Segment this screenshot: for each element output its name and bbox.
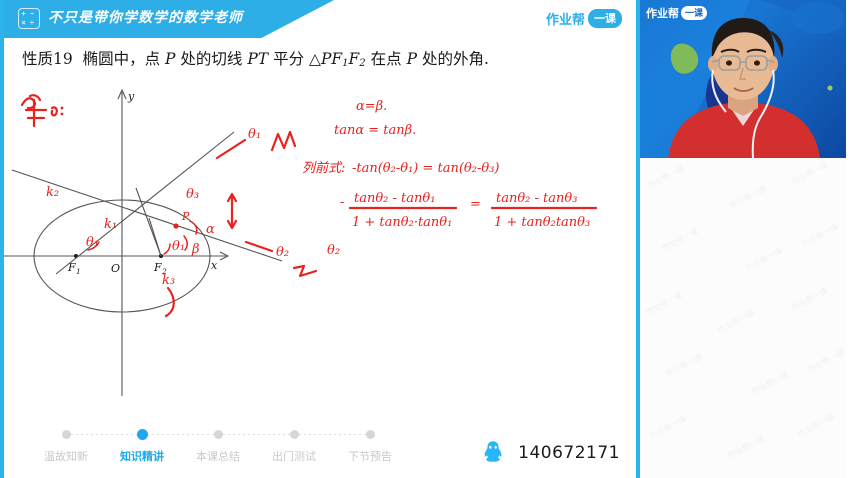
teacher-video-feed[interactable]: 作业帮 一课 xyxy=(640,0,846,158)
ann-theta1: θ₁ xyxy=(248,127,261,142)
panel-watermark: 作业帮一课 xyxy=(750,369,790,397)
whiteboard-canvas[interactable]: .gl{ stroke:#555; fill:none; stroke-widt… xyxy=(4,78,636,396)
ann-T xyxy=(294,266,316,276)
qq-penguin-icon xyxy=(482,440,504,465)
calculator-times-glyph: × xyxy=(22,20,26,27)
title-sub-2: 2 xyxy=(359,58,365,69)
hw-frac1-den: 1 + tanθ₂·tanθ₁ xyxy=(352,215,452,230)
panel-watermark: 作业帮一课 xyxy=(716,307,756,335)
panel-watermark: 作业帮一课 xyxy=(796,411,836,439)
title-var-pt: PT xyxy=(247,50,268,68)
x-axis-label: x xyxy=(211,259,218,272)
hw-frac2-num: tanθ₂ - tanθ₃ xyxy=(496,191,577,206)
step-label: 本课总结 xyxy=(196,448,240,464)
slide-area: + − × ÷ 不只是带你学数学的数学老师 作业帮 一课 性质19 椭圆中，点 … xyxy=(0,0,640,478)
ann-theta1-f2: θ₁ xyxy=(172,239,185,254)
ann-P: P xyxy=(181,210,190,223)
hw-frac-eq: = xyxy=(470,197,481,212)
hw-frac1-num: tanθ₂ - tanθ₁ xyxy=(354,191,435,206)
step-label: 出门测试 xyxy=(272,448,316,464)
side-panel[interactable]: 作业帮一课 作业帮一课 作业帮一课 作业帮一课 作业帮一课 作业帮一课 作业帮一… xyxy=(640,158,846,478)
video-frame-content xyxy=(640,0,846,158)
ann-k1: k₁ xyxy=(104,217,117,232)
app-root: + − × ÷ 不只是带你学数学的数学老师 作业帮 一课 性质19 椭圆中，点 … xyxy=(0,0,850,478)
calculator-icon: + − × ÷ xyxy=(18,8,40,29)
right-column: 作业帮 一课 xyxy=(640,0,846,478)
focus-points: F 1 O F 2 xyxy=(67,254,167,276)
panel-watermark: 作业帮一课 xyxy=(744,245,784,273)
ann-theta3: θ₃ xyxy=(186,187,199,202)
video-watermark: 作业帮 一课 xyxy=(646,5,707,21)
brand-badge: 一课 xyxy=(588,9,622,28)
ann-alpha: α xyxy=(206,222,215,237)
panel-watermark: 作业帮一课 xyxy=(646,163,686,191)
title-var-p2: P xyxy=(407,50,417,68)
step-list: 温故知新 知识精讲 本课总结 出门测试 xyxy=(28,430,408,464)
panel-watermark: 作业帮一课 xyxy=(790,159,830,187)
step-dot xyxy=(62,430,71,439)
construction-lines xyxy=(12,132,282,274)
step-item-4[interactable]: 下节预告 xyxy=(332,430,408,464)
step-label: 知识精讲 xyxy=(120,448,164,464)
calculator-plus-glyph: + xyxy=(22,11,26,18)
ann-theta2: θ₂ xyxy=(327,243,340,258)
video-watermark-text: 作业帮 xyxy=(646,5,679,21)
handwritten-derivation: α=β. tanα = tanβ. 列前式: -tan(θ₂-θ₁) = tan… xyxy=(302,99,596,230)
step-connector xyxy=(218,434,294,435)
ann-beta: β xyxy=(191,242,200,257)
diagram-ink-annotations: k₂ θ₃ P α β θ₁ θ₂ xyxy=(46,127,340,316)
title-text-5: 处的外角. xyxy=(422,50,489,68)
panel-watermark: 作业帮一课 xyxy=(790,285,830,313)
focus-f2-label: F xyxy=(153,261,162,274)
step-label: 温故知新 xyxy=(44,448,88,464)
hw-step-label: 列前式: xyxy=(302,161,345,176)
brand-logo: 作业帮 一课 xyxy=(546,9,622,28)
proof-annotation xyxy=(22,95,63,126)
title-var-p1: P xyxy=(165,50,175,68)
panel-watermark: 作业帮一课 xyxy=(660,225,700,253)
video-watermark-badge: 一课 xyxy=(681,6,707,20)
step-item-3[interactable]: 出门测试 xyxy=(256,430,332,464)
ann-M xyxy=(272,132,295,150)
hw-frac2-den: 1 + tanθ₂tanθ₃ xyxy=(494,215,590,230)
lesson-step-bar: 温故知新 知识精讲 本课总结 出门测试 xyxy=(4,420,636,478)
step-dot-active xyxy=(138,430,147,439)
step-connector xyxy=(294,434,370,435)
page-title: 性质19 椭圆中，点 P 处的切线 PT 平分 △PF1F2 在点 P 处的外角… xyxy=(22,47,622,69)
step-dot xyxy=(214,430,223,439)
qq-number: 140672171 xyxy=(518,443,620,463)
step-item-1[interactable]: 知识精讲 xyxy=(104,430,180,464)
panel-watermark: 作业帮一课 xyxy=(800,221,840,249)
panel-watermark: 作业帮一课 xyxy=(664,351,704,379)
title-text-3: 平分 xyxy=(273,50,304,68)
calculator-minus-glyph: − xyxy=(30,11,34,18)
hw-alpha-beta: α=β. xyxy=(356,99,387,114)
panel-watermark: 作业帮一课 xyxy=(644,289,684,317)
y-axis-label: y xyxy=(127,90,135,103)
hw-tan-line: tanα = tanβ. xyxy=(334,123,416,138)
step-connector xyxy=(66,434,142,435)
step-dot xyxy=(366,430,375,439)
origin-label: O xyxy=(111,262,120,275)
hw-equation: -tan(θ₂-θ₁) = tan(θ₂-θ₃) xyxy=(352,161,499,176)
step-item-2[interactable]: 本课总结 xyxy=(180,430,256,464)
qq-group-block: 140672171 xyxy=(482,440,620,465)
title-text-4: 在点 xyxy=(371,50,402,68)
calculator-divide-glyph: ÷ xyxy=(30,20,34,27)
brand-name: 作业帮 xyxy=(546,9,585,28)
step-label: 下节预告 xyxy=(348,448,392,464)
panel-watermark: 作业帮一课 xyxy=(648,413,688,441)
panel-watermark: 作业帮一课 xyxy=(726,433,766,461)
title-text-2: 处的切线 xyxy=(180,50,242,68)
header-slogan: 不只是带你学数学的数学老师 xyxy=(48,7,243,27)
title-triangle: △PF xyxy=(309,50,342,68)
panel-watermark: 作业帮一课 xyxy=(728,183,768,211)
ann-k2: k₂ xyxy=(46,185,59,200)
title-text-1: 椭圆中，点 xyxy=(83,50,161,68)
ann-k3: k₃ xyxy=(162,273,175,288)
slide-header: + − × ÷ 不只是带你学数学的数学老师 作业帮 一课 xyxy=(4,0,636,38)
hw-frac-minus: - xyxy=(340,195,344,210)
step-item-0[interactable]: 温故知新 xyxy=(28,430,104,464)
title-var-f: F xyxy=(349,50,360,68)
panel-watermark: 作业帮一课 xyxy=(806,347,846,375)
title-prefix: 性质19 xyxy=(22,50,73,68)
ann-theta2-right: θ₂ xyxy=(276,245,289,260)
step-connector xyxy=(142,434,218,435)
focus-f1-label: F xyxy=(67,261,76,274)
step-dot xyxy=(290,430,299,439)
focus-f1-sub: 1 xyxy=(76,267,81,276)
